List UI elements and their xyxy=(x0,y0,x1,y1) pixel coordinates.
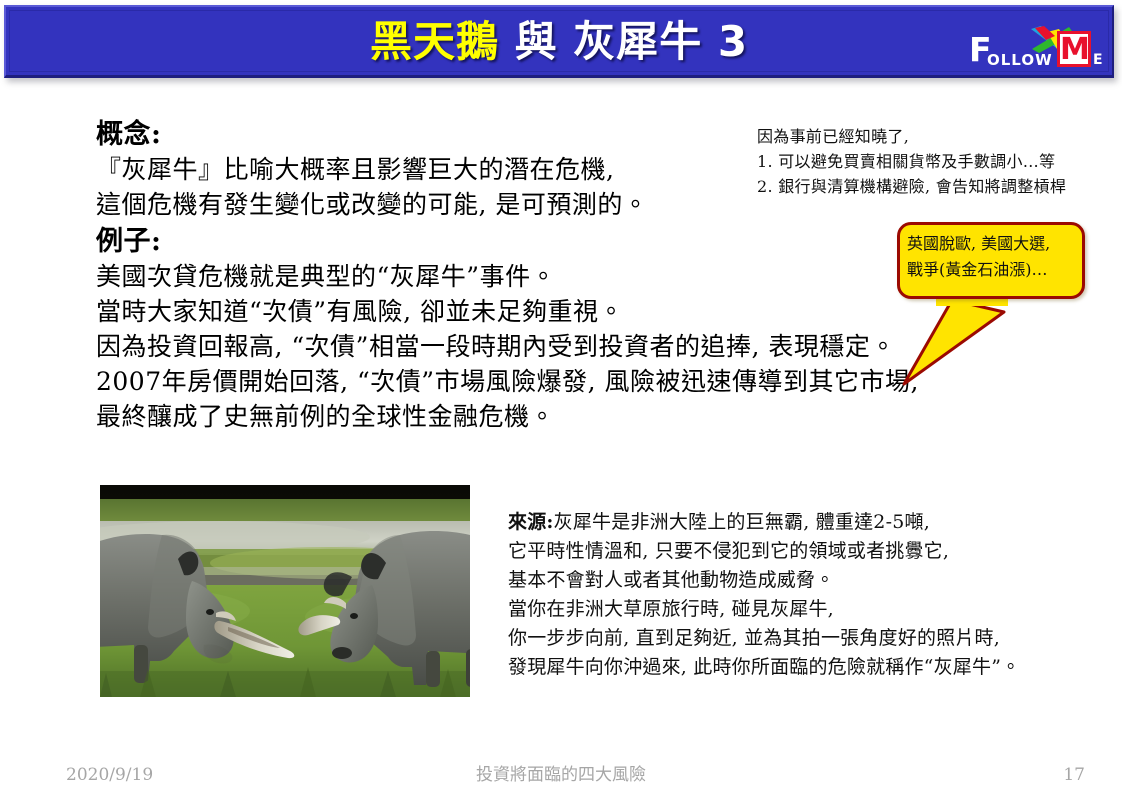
concept-block: 概念: 『灰犀牛』比喻大概率且影響巨大的潛在危機, 這個危機有發生變化或改變的可… xyxy=(96,118,796,222)
slide-canvas: 黑天鵝 與 灰犀牛 3 F OLLOW M E 概念: 『灰犀牛』比喻大概率且影… xyxy=(0,0,1122,793)
source-note-line-4: 當你在非洲大草原旅行時, 碰見灰犀牛, xyxy=(508,595,1118,624)
page-title-rest: 與 灰犀牛 3 xyxy=(499,17,748,66)
example-line-5: 最終釀成了史無前例的全球性金融危機。 xyxy=(96,399,1056,434)
callout-line-2: 戰爭(黃金石油漲)… xyxy=(907,257,1079,283)
source-note-line-1: 來源:灰犀牛是非洲大陸上的巨無霸, 體重達2-5噸, xyxy=(508,508,1118,537)
slide-title-bar: 黑天鵝 與 灰犀牛 3 F OLLOW M E xyxy=(4,5,1114,78)
page-title-highlight: 黑天鵝 xyxy=(370,17,499,66)
source-note: 來源:灰犀牛是非洲大陸上的巨無霸, 體重達2-5噸, 它平時性情溫和, 只要不侵… xyxy=(508,508,1118,682)
source-note-line-5: 你一步步向前, 直到足夠近, 並為其拍一張角度好的照片時, xyxy=(508,624,1118,653)
logo-letter-m: M xyxy=(1060,35,1090,65)
followme-logo: F OLLOW M E xyxy=(969,25,1106,70)
rhino-photo-illustration xyxy=(100,485,470,697)
source-label: 來源: xyxy=(508,511,554,533)
source-note-line-2: 它平時性情溫和, 只要不侵犯到它的領域或者挑釁它, xyxy=(508,537,1118,566)
callout-line-1: 英國脫歐, 美國大選, xyxy=(907,231,1079,257)
speech-callout: 英國脫歐, 美國大選, 戰爭(黃金石油漲)… xyxy=(897,222,1085,299)
page-title: 黑天鵝 與 灰犀牛 3 xyxy=(6,16,1112,68)
logo-letter-e: E xyxy=(1093,52,1103,68)
logo-word-follow: OLLOW xyxy=(987,51,1053,69)
footer-page-number: 17 xyxy=(0,765,1085,785)
top-right-note: 因為事前已經知曉了, 1. 可以避免買賣相關貨幣及手數調小…等 2. 銀行與清算… xyxy=(757,124,1117,199)
callout-text: 英國脫歐, 美國大選, 戰爭(黃金石油漲)… xyxy=(907,231,1079,283)
top-right-note-line-3: 2. 銀行與清算機構避險, 會告知將調整槓桿 xyxy=(757,174,1117,199)
source-note-first-rest: 灰犀牛是非洲大陸上的巨無霸, 體重達2-5噸, xyxy=(554,511,930,533)
concept-heading: 概念: xyxy=(96,118,796,152)
concept-line-2: 這個危機有發生變化或改變的可能, 是可預測的。 xyxy=(96,187,796,222)
source-note-line-6: 發現犀牛向你沖過來, 此時你所面臨的危險就稱作“灰犀牛”。 xyxy=(508,653,1118,682)
source-note-line-3: 基本不會對人或者其他動物造成威脅。 xyxy=(508,566,1118,595)
rhino-photo xyxy=(100,485,470,697)
concept-line-1: 『灰犀牛』比喻大概率且影響巨大的潛在危機, xyxy=(96,152,796,187)
top-right-note-line-2: 1. 可以避免買賣相關貨幣及手數調小…等 xyxy=(757,149,1117,174)
top-right-note-line-1: 因為事前已經知曉了, xyxy=(757,124,1117,149)
